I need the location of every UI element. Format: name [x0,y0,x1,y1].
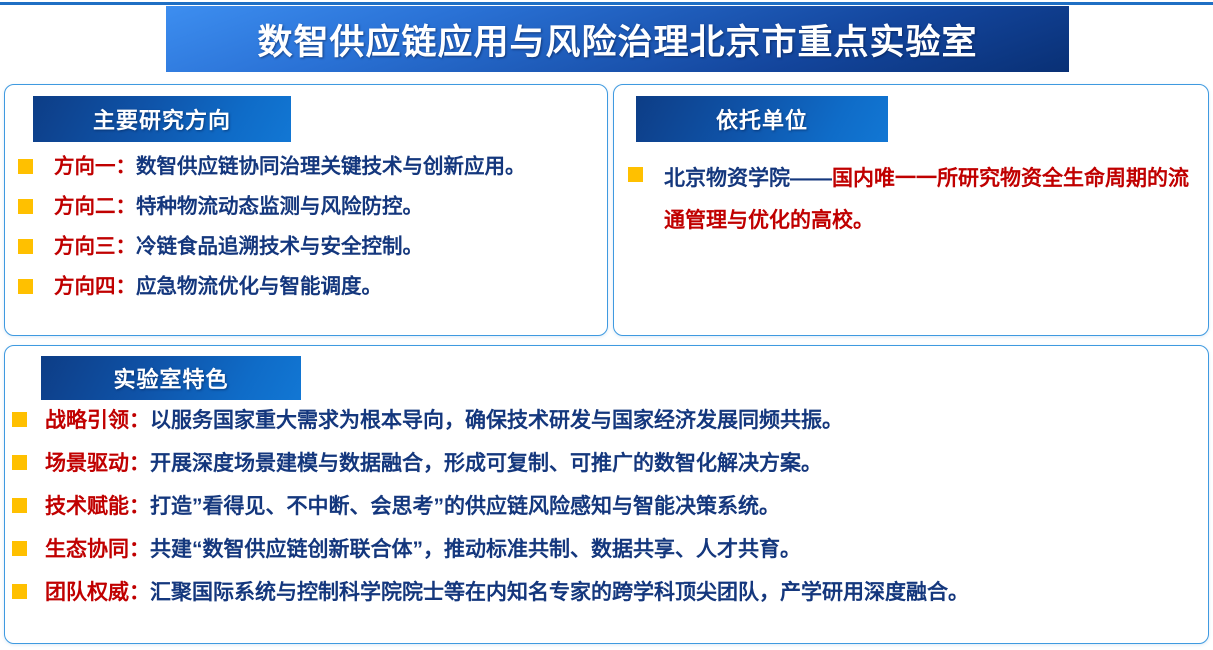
list-item-lead: 技术赋能： [45,495,150,518]
list-item-lead: 生态协同： [45,538,150,561]
square-bullet-icon [12,412,27,427]
list-item-text: 方向二：特种物流动态监测与风险防控。 [54,192,423,222]
list-item-detail: 开展深度场景建模与数据融合，形成可复制、可推广的数智化解决方案。 [150,452,822,475]
list-item-detail: 共建“数智供应链创新联合体”，推动标准共制、数据共享、人才共育。 [150,538,801,561]
list-item-text: 技术赋能：打造”看得见、不中断、会思考”的供应链风险感知与智能决策系统。 [45,492,780,521]
lab-features-badge: 实验室特色 [41,356,301,400]
research-directions-badge-label: 主要研究方向 [93,103,231,135]
top-accent-rule [0,2,1213,5]
list-item-text: 生态协同：共建“数智供应链创新联合体”，推动标准共制、数据共享、人才共育。 [45,535,801,564]
list-item-lead: 方向三： [54,235,136,258]
list-item-lead: 场景驱动： [45,452,150,475]
list-item-text: 场景驱动：开展深度场景建模与数据融合，形成可复制、可推广的数智化解决方案。 [45,449,822,478]
square-bullet-icon [12,584,27,599]
list-item: 生态协同：共建“数智供应链创新联合体”，推动标准共制、数据共享、人才共育。 [12,535,1202,564]
research-directions-badge: 主要研究方向 [33,96,291,142]
host-institution-badge-label: 依托单位 [716,103,808,135]
square-bullet-icon [12,455,27,470]
list-item-detail: 冷链食品追溯技术与安全控制。 [136,235,423,258]
list-item: 方向一：数智供应链协同治理关键技术与创新应用。 [18,152,603,182]
list-item-lead: 方向二： [54,195,136,218]
square-bullet-icon [12,498,27,513]
list-item-lead: 方向一： [54,155,136,178]
list-item-text: 方向三：冷链食品追溯技术与安全控制。 [54,232,423,262]
list-item-text: 方向四：应急物流优化与智能调度。 [54,272,382,302]
research-directions-list: 方向一：数智供应链协同治理关键技术与创新应用。 方向二：特种物流动态监测与风险防… [18,152,603,312]
list-item-detail: 应急物流优化与智能调度。 [136,275,382,298]
list-item: 技术赋能：打造”看得见、不中断、会思考”的供应链风险感知与智能决策系统。 [12,492,1202,521]
list-item-lead: 北京物资学院—— [664,167,832,190]
list-item-text: 方向一：数智供应链协同治理关键技术与创新应用。 [54,152,526,182]
list-item-detail: 汇聚国际系统与控制科学院院士等在内知名专家的跨学科顶尖团队，产学研用深度融合。 [150,581,969,604]
list-item: 方向三：冷链食品追溯技术与安全控制。 [18,232,603,262]
list-item: 场景驱动：开展深度场景建模与数据融合，形成可复制、可推广的数智化解决方案。 [12,449,1202,478]
list-item-detail: 特种物流动态监测与风险防控。 [136,195,423,218]
list-item-text: 团队权威：汇聚国际系统与控制科学院院士等在内知名专家的跨学科顶尖团队，产学研用深… [45,578,969,607]
list-item: 方向二：特种物流动态监测与风险防控。 [18,192,603,222]
host-institution-list: 北京物资学院——国内唯一一所研究物资全生命周期的流通管理与优化的高校。 [628,158,1194,242]
list-item: 团队权威：汇聚国际系统与控制科学院院士等在内知名专家的跨学科顶尖团队，产学研用深… [12,578,1202,607]
list-item: 方向四：应急物流优化与智能调度。 [18,272,603,302]
list-item-text: 战略引领：以服务国家重大需求为根本导向，确保技术研发与国家经济发展同频共振。 [45,406,843,435]
list-item-lead: 团队权威： [45,581,150,604]
list-item-lead: 方向四： [54,275,136,298]
square-bullet-icon [18,159,33,174]
square-bullet-icon [18,199,33,214]
square-bullet-icon [628,167,643,182]
list-item-lead: 战略引领： [45,409,150,432]
square-bullet-icon [18,279,33,294]
slide-title-banner: 数智供应链应用与风险治理北京市重点实验室 [166,6,1069,72]
square-bullet-icon [12,541,27,556]
list-item: 北京物资学院——国内唯一一所研究物资全生命周期的流通管理与优化的高校。 [628,158,1194,242]
list-item: 战略引领：以服务国家重大需求为根本导向，确保技术研发与国家经济发展同频共振。 [12,406,1202,435]
host-institution-badge: 依托单位 [636,96,888,142]
list-item-detail: 打造”看得见、不中断、会思考”的供应链风险感知与智能决策系统。 [150,495,780,518]
lab-features-list: 战略引领：以服务国家重大需求为根本导向，确保技术研发与国家经济发展同频共振。 场… [12,406,1202,621]
lab-features-badge-label: 实验室特色 [113,362,228,394]
list-item-detail: 以服务国家重大需求为根本导向，确保技术研发与国家经济发展同频共振。 [150,409,843,432]
list-item-detail: 数智供应链协同治理关键技术与创新应用。 [136,155,526,178]
page-title: 数智供应链应用与风险治理北京市重点实验室 [257,14,977,65]
list-item-text: 北京物资学院——国内唯一一所研究物资全生命周期的流通管理与优化的高校。 [664,158,1194,242]
square-bullet-icon [18,239,33,254]
